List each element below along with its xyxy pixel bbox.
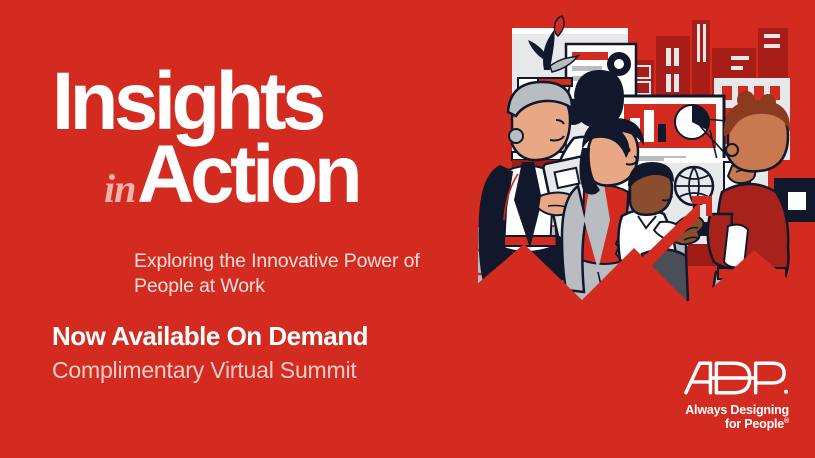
subtitle-text: Exploring the Innovative Power of People… (134, 249, 464, 299)
cta-headline: Now Available On Demand (52, 322, 452, 352)
adp-tagline-line2: for People (725, 417, 784, 431)
adp-logo: Always Designing for People® (671, 358, 789, 433)
adp-tagline: Always Designing for People® (671, 403, 789, 433)
registered-mark-icon: ® (784, 418, 789, 425)
headline-action-word: Action (137, 141, 358, 208)
adp-wordmark-icon (681, 358, 789, 398)
headline-insights: Insights (52, 68, 459, 135)
cta-block: Now Available On Demand Complimentary Vi… (52, 322, 452, 383)
headline-in-action: inAction (52, 141, 472, 208)
office-collaboration-illustration (478, 0, 815, 340)
adp-tagline-line1: Always Designing (685, 403, 789, 417)
headline-in-word: in (104, 166, 135, 211)
adp-insights-in-action-banner: Insights inAction Exploring the Innovati… (0, 0, 815, 458)
cta-subheadline: Complimentary Virtual Summit (52, 357, 452, 383)
headline-block: Insights inAction (52, 68, 472, 208)
